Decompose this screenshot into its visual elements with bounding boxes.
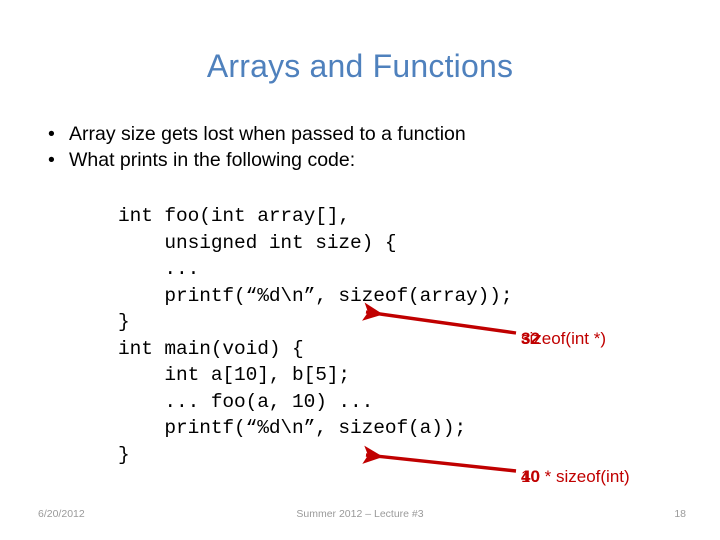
annotation-2-expression: 10 * sizeof(int) <box>521 468 630 485</box>
list-item-label: What prints in the following code: <box>69 149 355 171</box>
annotation-2-value: 40 <box>521 468 540 485</box>
footer-course-label: Summer 2012 – Lecture #3 <box>0 508 720 520</box>
list-item: • What prints in the following code: <box>36 148 686 174</box>
bullet-marker-icon: • <box>48 122 55 148</box>
annotation-1-expression: sizeof(int *) <box>521 330 606 347</box>
page-title: Arrays and Functions <box>36 48 684 85</box>
bullet-marker-icon: • <box>48 148 55 174</box>
footer-page-number: 18 <box>674 508 686 520</box>
bullet-list: • Array size gets lost when passed to a … <box>36 122 686 173</box>
code-block: int foo(int array[], unsigned int size) … <box>118 203 512 468</box>
annotation-1-value: 32 <box>521 330 540 347</box>
list-item-label: Array size gets lost when passed to a fu… <box>69 123 466 145</box>
list-item: • Array size gets lost when passed to a … <box>36 122 686 148</box>
slide-footer: 6/20/2012 Summer 2012 – Lecture #3 18 <box>0 508 720 528</box>
slide: Arrays and Functions • Array size gets l… <box>0 0 720 540</box>
